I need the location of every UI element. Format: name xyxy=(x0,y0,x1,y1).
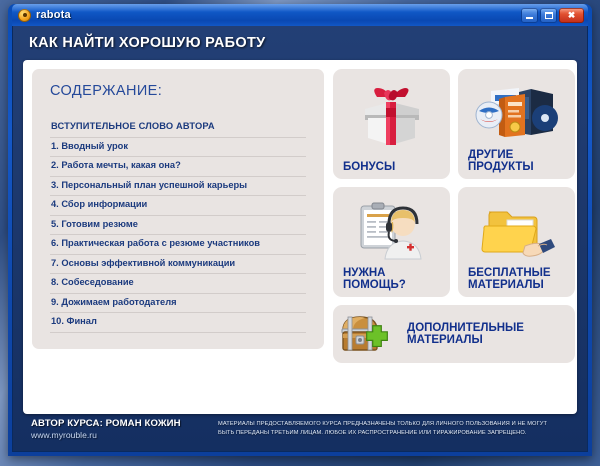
tile-bonuses[interactable]: БОНУСЫ xyxy=(333,69,450,179)
close-icon: ✖ xyxy=(568,11,576,20)
tile-label: ДРУГИЕ ПРОДУКТЫ xyxy=(464,149,534,173)
tile-additional-materials[interactable]: ДОПОЛНИТЕЛЬНЫЕ МАТЕРИАЛЫ xyxy=(333,305,575,363)
contents-card: СОДЕРЖАНИЕ: ВСТУПИТЕЛЬНОЕ СЛОВО АВТОРА 1… xyxy=(32,69,324,349)
page-title: КАК НАЙТИ ХОРОШУЮ РАБОТУ xyxy=(29,35,265,51)
author-name: АВТОР КУРСА: РОМАН КОЖИН xyxy=(31,418,218,429)
list-item[interactable]: 1. Вводный урок xyxy=(50,138,306,158)
content-sheet: СОДЕРЖАНИЕ: ВСТУПИТЕЛЬНОЕ СЛОВО АВТОРА 1… xyxy=(23,60,577,414)
tile-label: ДОПОЛНИТЕЛЬНЫЕ МАТЕРИАЛЫ xyxy=(405,322,524,346)
list-item[interactable]: 9. Дожимаем работодателя xyxy=(50,294,306,314)
list-item[interactable]: 8. Собеседование xyxy=(50,274,306,294)
maximize-icon xyxy=(545,12,553,19)
footer: АВТОР КУРСА: РОМАН КОЖИН www.myrouble.ru… xyxy=(23,413,577,445)
treasure-chest-plus-icon xyxy=(339,309,397,359)
app-circle-icon xyxy=(18,9,31,22)
app-window: rabota ✖ КАК НАЙТИ ХОРОШУЮ РАБОТУ СОДЕРЖ… xyxy=(8,4,592,456)
contents-heading: СОДЕРЖАНИЕ: xyxy=(50,83,306,99)
list-item[interactable]: 6. Практическая работа с резюме участник… xyxy=(50,235,306,255)
list-item[interactable]: ВСТУПИТЕЛЬНОЕ СЛОВО АВТОРА xyxy=(50,118,306,138)
tile-label: БЕСПЛАТНЫЕ МАТЕРИАЛЫ xyxy=(464,267,551,291)
table-of-contents: ВСТУПИТЕЛЬНОЕ СЛОВО АВТОРА 1. Вводный ур… xyxy=(50,118,306,333)
support-agent-icon xyxy=(339,193,444,267)
tile-label: НУЖНА ПОМОЩЬ? xyxy=(339,267,406,291)
disclaimer-line-2: БЫТЬ ПЕРЕДАНЫ ТРЕТЬИМ ЛИЦАМ. ЛЮБОЕ ИХ РА… xyxy=(218,429,547,438)
header-band: КАК НАЙТИ ХОРОШУЮ РАБОТУ xyxy=(23,26,577,60)
tile-other-products[interactable]: ДРУГИЕ ПРОДУКТЫ xyxy=(458,69,575,179)
list-item[interactable]: 2. Работа мечты, какая она? xyxy=(50,157,306,177)
list-item[interactable]: 3. Персональный план успешной карьеры xyxy=(50,177,306,197)
title-bar[interactable]: rabota ✖ xyxy=(12,4,588,26)
product-boxes-icon xyxy=(464,75,569,149)
list-item[interactable]: 5. Готовим резюме xyxy=(50,216,306,236)
minimize-button[interactable] xyxy=(521,8,538,23)
tile-free-materials[interactable]: БЕСПЛАТНЫЕ МАТЕРИАЛЫ xyxy=(458,187,575,297)
window-title: rabota xyxy=(36,9,521,21)
minimize-icon xyxy=(526,17,533,19)
disclaimer-text: МАТЕРИАЛЫ ПРЕДОСТАВЛЯЕМОГО КУРСА ПРЕДНАЗ… xyxy=(218,420,547,438)
folder-hand-icon xyxy=(464,193,569,267)
close-button[interactable]: ✖ xyxy=(559,8,584,23)
gift-box-icon xyxy=(339,75,444,161)
author-block: АВТОР КУРСА: РОМАН КОЖИН www.myrouble.ru xyxy=(23,418,218,440)
disclaimer-line-1: МАТЕРИАЛЫ ПРЕДОСТАВЛЯЕМОГО КУРСА ПРЕДНАЗ… xyxy=(218,420,547,429)
list-item[interactable]: 7. Основы эффективной коммуникации xyxy=(50,255,306,275)
window-body: КАК НАЙТИ ХОРОШУЮ РАБОТУ СОДЕРЖАНИЕ: ВСТ… xyxy=(12,26,588,452)
tile-need-help[interactable]: НУЖНА ПОМОЩЬ? xyxy=(333,187,450,297)
author-website[interactable]: www.myrouble.ru xyxy=(31,430,218,440)
list-item[interactable]: 10. Финал xyxy=(50,313,306,333)
tile-grid: БОНУСЫ xyxy=(333,69,575,363)
list-item[interactable]: 4. Сбор информации xyxy=(50,196,306,216)
maximize-button[interactable] xyxy=(540,8,557,23)
tile-label: БОНУСЫ xyxy=(339,161,395,173)
window-controls: ✖ xyxy=(521,8,586,23)
